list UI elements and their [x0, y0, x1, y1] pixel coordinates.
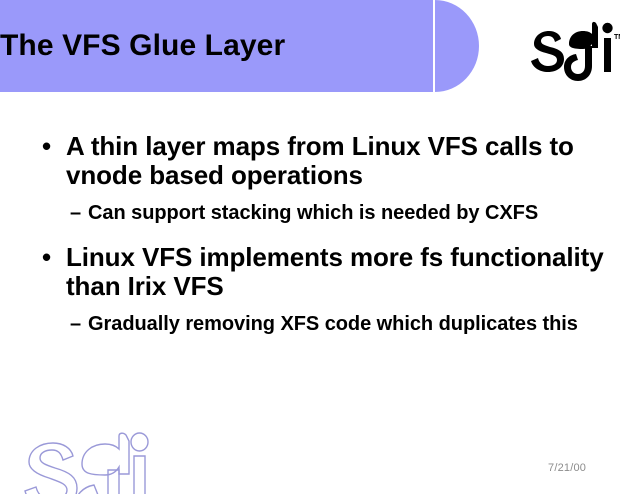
bullet-level2: – Can support stacking which is needed b… [0, 202, 640, 225]
bullet-text: Can support stacking which is needed by … [88, 202, 538, 224]
bullet-marker-dash: – [70, 202, 81, 225]
bullet-level1: • Linux VFS implements more fs functiona… [0, 243, 640, 301]
spacer [0, 225, 640, 243]
bullet-group-1: • A thin layer maps from Linux VFS calls… [0, 132, 640, 225]
bullet-marker-dot: • [42, 132, 51, 161]
page-title: The VFS Glue Layer [0, 24, 420, 68]
bullet-text: A thin layer maps from Linux VFS calls t… [66, 131, 574, 190]
bullet-marker-dash: – [70, 313, 81, 336]
bullet-group-2: • Linux VFS implements more fs functiona… [0, 243, 640, 336]
spacer [0, 190, 640, 202]
slide-canvas: The VFS Glue Layer TM • [0, 0, 640, 494]
bullet-level1: • A thin layer maps from Linux VFS calls… [0, 132, 640, 190]
sgi-logo: TM [528, 18, 620, 84]
spacer [0, 301, 640, 313]
footer-date: 7/21/00 [548, 462, 618, 474]
bullet-level2: – Gradually removing XFS code which dupl… [0, 313, 640, 336]
bullet-marker-dot: • [42, 243, 51, 272]
svg-text:TM: TM [614, 34, 620, 41]
bullet-text: Gradually removing XFS code which duplic… [88, 313, 578, 335]
bullet-text: Linux VFS implements more fs functionali… [66, 242, 604, 301]
sgi-watermark-outline-icon [22, 432, 152, 494]
header-banner-rounded-cap [435, 0, 479, 92]
slide-body: • A thin layer maps from Linux VFS calls… [0, 132, 640, 422]
